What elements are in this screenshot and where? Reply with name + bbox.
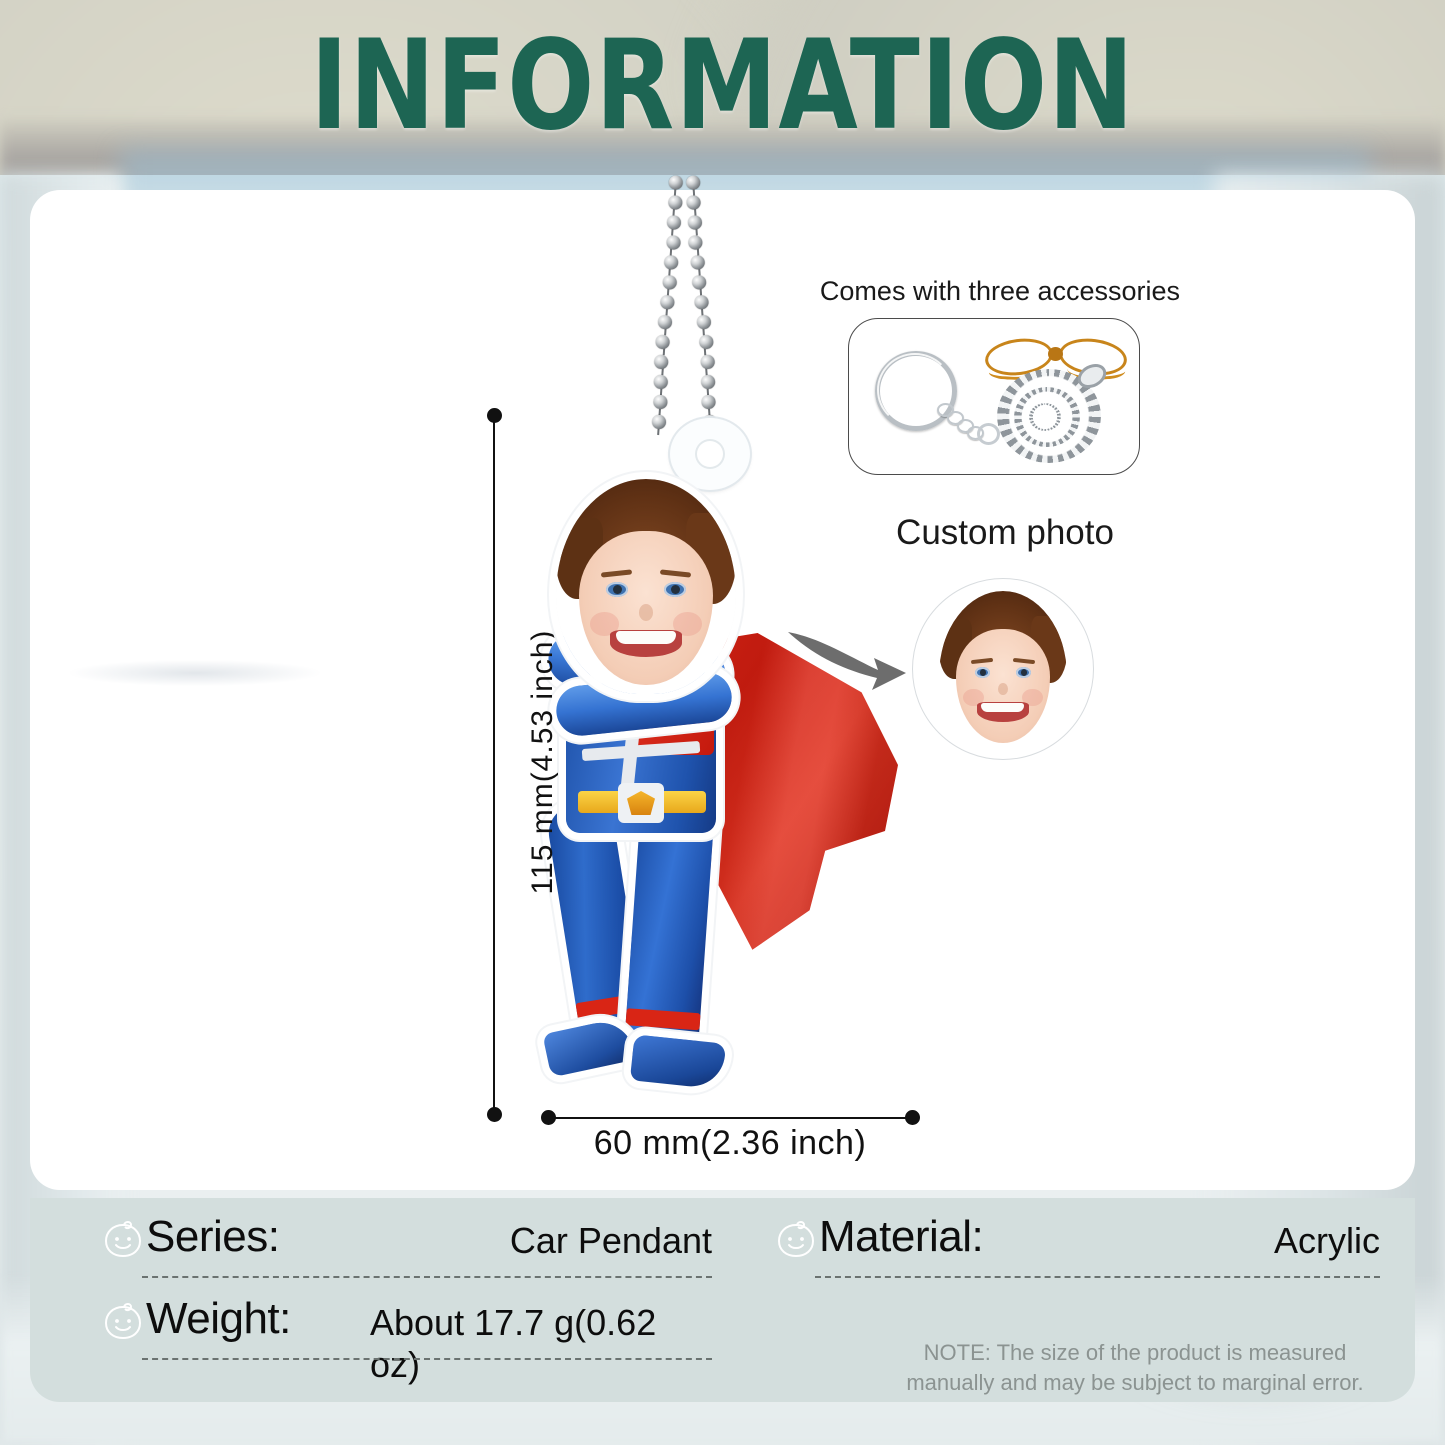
height-dimension-line xyxy=(493,415,495,1115)
spec-value-series: Car Pendant xyxy=(510,1220,712,1262)
measurement-note: NOTE: The size of the product is measure… xyxy=(895,1338,1375,1397)
spec-label-material: Material: xyxy=(819,1212,983,1262)
spec-divider-weight xyxy=(142,1358,712,1360)
spec-divider-series xyxy=(142,1276,712,1278)
charm-drop-shadow xyxy=(70,660,320,686)
custom-photo-title: Custom photo xyxy=(840,513,1170,553)
teeth xyxy=(981,703,1024,712)
custom-face-photo-on-charm xyxy=(556,479,736,694)
nose xyxy=(639,604,653,621)
page-title: INFORMATION xyxy=(58,24,1387,148)
bow-knot xyxy=(1048,347,1063,361)
eye-right xyxy=(664,582,686,597)
spec-row-material: Material: Acrylic xyxy=(775,1198,1380,1280)
baby-face-icon xyxy=(102,1220,144,1260)
custom-photo-face xyxy=(939,591,1067,749)
spec-label-weight: Weight: xyxy=(146,1294,291,1344)
width-endpoint-left xyxy=(541,1110,556,1125)
baby-face-icon xyxy=(102,1302,144,1342)
specifications-panel: Series: Car Pendant Weight: About 17.7 g… xyxy=(30,1198,1415,1402)
chest-strap-horizontal xyxy=(582,741,701,761)
spec-row-weight: Weight: About 17.7 g(0.62 oz) xyxy=(102,1280,712,1362)
teeth xyxy=(616,631,676,644)
spec-label-series: Series: xyxy=(146,1212,279,1262)
mouth xyxy=(977,702,1028,723)
custom-photo-preview xyxy=(912,578,1094,760)
ball-chain-coil-icon xyxy=(997,369,1105,467)
boot-right xyxy=(630,1034,726,1089)
baby-face-icon xyxy=(775,1220,817,1260)
key-ring-icon xyxy=(875,351,957,431)
leg-right xyxy=(623,801,715,1068)
child-face-illustration-preview xyxy=(939,591,1067,749)
child-face-illustration xyxy=(556,479,736,694)
eye-left xyxy=(975,667,990,678)
spec-value-material: Acrylic xyxy=(1274,1220,1380,1262)
coil-inner xyxy=(1029,403,1061,431)
width-dimension-label: 60 mm(2.36 inch) xyxy=(470,1124,990,1163)
height-endpoint-bottom xyxy=(487,1107,502,1122)
specs-column-left: Series: Car Pendant Weight: About 17.7 g… xyxy=(102,1198,712,1362)
width-dimension-line xyxy=(548,1117,912,1119)
superhero-figure xyxy=(520,473,900,1103)
accessories-box xyxy=(848,318,1140,475)
specs-column-right: Material: Acrylic NOTE: The size of the … xyxy=(775,1198,1380,1280)
eye-right xyxy=(1016,667,1031,678)
height-endpoint-top xyxy=(487,408,502,423)
accessories-title: Comes with three accessories xyxy=(815,276,1185,307)
spec-row-series: Series: Car Pendant xyxy=(102,1198,712,1280)
ankle-stripe-right xyxy=(626,1008,701,1030)
curved-arrow-icon xyxy=(782,618,912,708)
height-dimension-label: 115 mm(4.53 inch) xyxy=(526,602,560,922)
spec-divider-material xyxy=(815,1276,1380,1278)
belt-buckle-emblem xyxy=(618,783,664,823)
spec-value-weight: About 17.7 g(0.62 oz) xyxy=(370,1302,712,1386)
width-endpoint-right xyxy=(905,1110,920,1125)
